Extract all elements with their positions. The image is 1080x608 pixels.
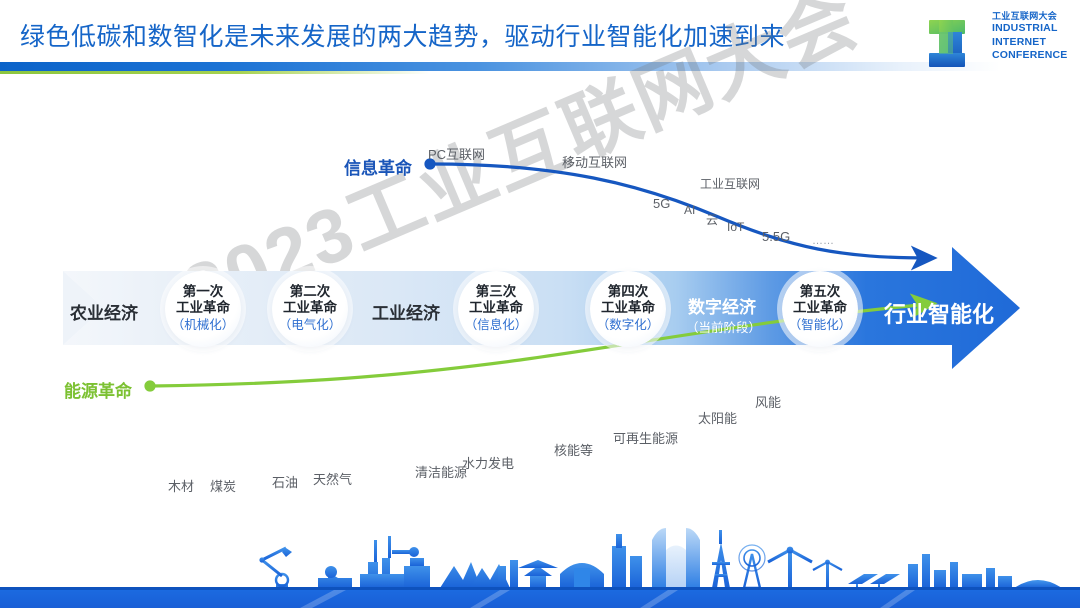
era-agricultural-economy: 农业经济 (70, 299, 138, 324)
node-title-line2: 工业革命 (283, 300, 337, 316)
node-subtitle: （机械化） (172, 317, 235, 334)
info-milestone-55g: 5.5G (762, 229, 790, 244)
node-title-line1: 第五次 (800, 284, 841, 300)
node-title-line2: 工业革命 (793, 300, 847, 316)
logo-line-conference: CONFERENCE (992, 49, 1068, 63)
node-title-line1: 第四次 (608, 284, 649, 300)
node-title-line2: 工业革命 (601, 300, 655, 316)
energy-milestone-coal: 煤炭 (210, 476, 236, 495)
energy-milestone-wind: 风能 (755, 392, 781, 411)
water-band (0, 590, 1080, 608)
info-milestone-mobile-internet: 移动互联网 (562, 152, 627, 171)
info-milestone-iot: IoT (727, 220, 744, 234)
energy-milestone-nuclear: 核能等 (554, 440, 593, 459)
final-state-label: 行业智能化 (884, 297, 994, 329)
waterline (0, 587, 1080, 590)
logo-line-industrial: INDUSTRIAL (992, 22, 1068, 36)
logo-i-mark-icon (926, 12, 988, 74)
info-milestone-ai: AI (684, 203, 695, 217)
info-revolution-curve (432, 164, 930, 258)
era-digital-economy-sub: （当前阶段） (686, 317, 761, 336)
divider-green-bar (0, 71, 430, 74)
header-divider (0, 62, 1080, 76)
info-milestone-pc-internet: PC互联网 (428, 144, 485, 163)
node-third-industrial-revolution[interactable]: 第三次 工业革命 （信息化） (458, 271, 534, 347)
energy-milestone-natural-gas: 天然气 (313, 469, 352, 488)
node-title-line2: 工业革命 (469, 300, 523, 316)
node-title-line1: 第二次 (290, 284, 331, 300)
divider-blue-bar (0, 62, 1000, 71)
node-fifth-industrial-revolution[interactable]: 第五次 工业革命 （智能化） (782, 271, 858, 347)
info-revolution-label: 信息革命 (344, 154, 412, 179)
node-first-industrial-revolution[interactable]: 第一次 工业革命 （机械化） (165, 271, 241, 347)
energy-milestone-clean-energy: 清洁能源 (415, 462, 467, 481)
era-industrial-economy: 工业经济 (372, 299, 440, 324)
node-second-industrial-revolution[interactable]: 第二次 工业革命 （电气化） (272, 271, 348, 347)
logo-cn-name: 工业互联网大会 (992, 10, 1068, 22)
node-subtitle: （信息化） (465, 317, 528, 334)
slide-canvas: 绿色低碳和数智化是未来发展的两大趋势，驱动行业智能化加速到来 工业互联网大会 I… (0, 0, 1080, 608)
page-title: 绿色低碳和数智化是未来发展的两大趋势，驱动行业智能化加速到来 (20, 17, 785, 53)
info-milestone-cloud: 云 (706, 211, 718, 228)
node-subtitle: （智能化） (789, 317, 852, 334)
energy-milestone-oil: 石油 (272, 472, 298, 491)
node-title-line1: 第一次 (183, 284, 224, 300)
logo-text-block: 工业互联网大会 INDUSTRIAL INTERNET CONFERENCE (992, 10, 1068, 63)
conference-logo: 工业互联网大会 INDUSTRIAL INTERNET CONFERENCE (926, 8, 1066, 78)
energy-milestone-wood: 木材 (168, 476, 194, 495)
energy-milestone-renewable: 可再生能源 (613, 428, 678, 447)
node-subtitle: （电气化） (279, 317, 342, 334)
node-fourth-industrial-revolution[interactable]: 第四次 工业革命 （数字化） (590, 271, 666, 347)
node-title-line1: 第三次 (476, 284, 517, 300)
energy-milestone-hydropower: 水力发电 (462, 453, 514, 472)
era-digital-economy: 数字经济 (688, 293, 756, 318)
node-subtitle: （数字化） (597, 317, 660, 334)
skyline-buildings (259, 526, 1060, 589)
city-skyline-illustration (0, 518, 1080, 608)
info-milestone-industrial-internet: 工业互联网 (700, 175, 760, 192)
energy-revolution-label: 能源革命 (64, 377, 132, 402)
node-title-line2: 工业革命 (176, 300, 230, 316)
info-milestone-ellipsis: …… (812, 235, 834, 247)
energy-curve-start-dot (144, 380, 155, 391)
energy-milestone-solar: 太阳能 (698, 408, 737, 427)
info-milestone-5g: 5G (653, 196, 670, 211)
logo-line-internet: INTERNET (992, 36, 1068, 50)
